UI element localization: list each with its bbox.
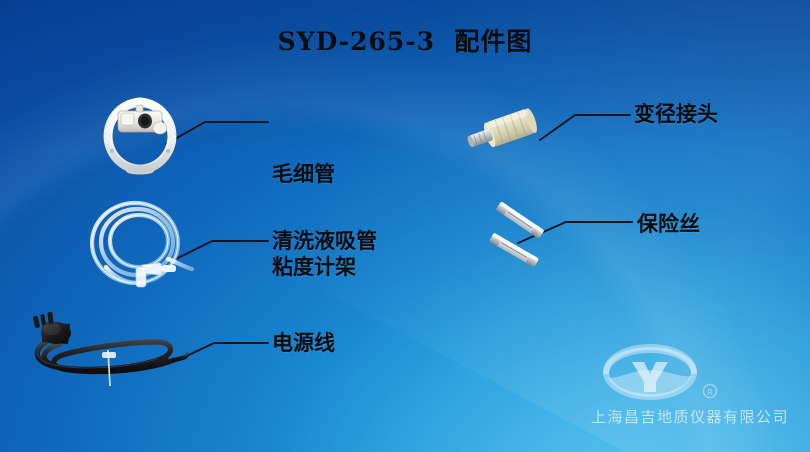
part-reducing-adapter [455, 100, 560, 162]
adapter-icon [455, 100, 560, 162]
part-cleaning-pipette [80, 193, 210, 297]
fuse-cartridge-upper [496, 201, 545, 238]
callout-label-power-cord: 电源线 [272, 327, 335, 358]
svg-text:R: R [707, 388, 713, 397]
fuse-icon [478, 198, 573, 273]
page-title: SYD-265-3 配件图 [0, 22, 810, 58]
company-name: 上海昌吉地质仪器有限公司 [575, 406, 805, 427]
ring-holder-icon [92, 96, 188, 176]
tube-connector [136, 263, 176, 287]
coiled-tube-icon [80, 193, 210, 297]
callout-label-cleaning-pipette: 清洗液吸管 [272, 225, 377, 256]
sy-monogram-logo: R [588, 344, 728, 406]
registered-mark-icon: R [704, 385, 717, 398]
part-capillary-holder [92, 96, 188, 176]
part-fuse [478, 198, 573, 273]
part-power-cord [8, 300, 188, 390]
callout-label-capillary-holder: 毛细管 粘度计架 [272, 96, 356, 344]
power-plug [33, 312, 71, 344]
callout-label-reducing-adapter: 变径接头 [634, 98, 718, 129]
callout-label-line1: 毛细管 [272, 158, 356, 189]
callout-label-fuse: 保险丝 [637, 208, 700, 239]
accessory-diagram-page: SYD-265-3 配件图 [0, 0, 810, 452]
fuse-cartridge-lower [489, 233, 539, 268]
power-cord-icon [8, 300, 188, 390]
